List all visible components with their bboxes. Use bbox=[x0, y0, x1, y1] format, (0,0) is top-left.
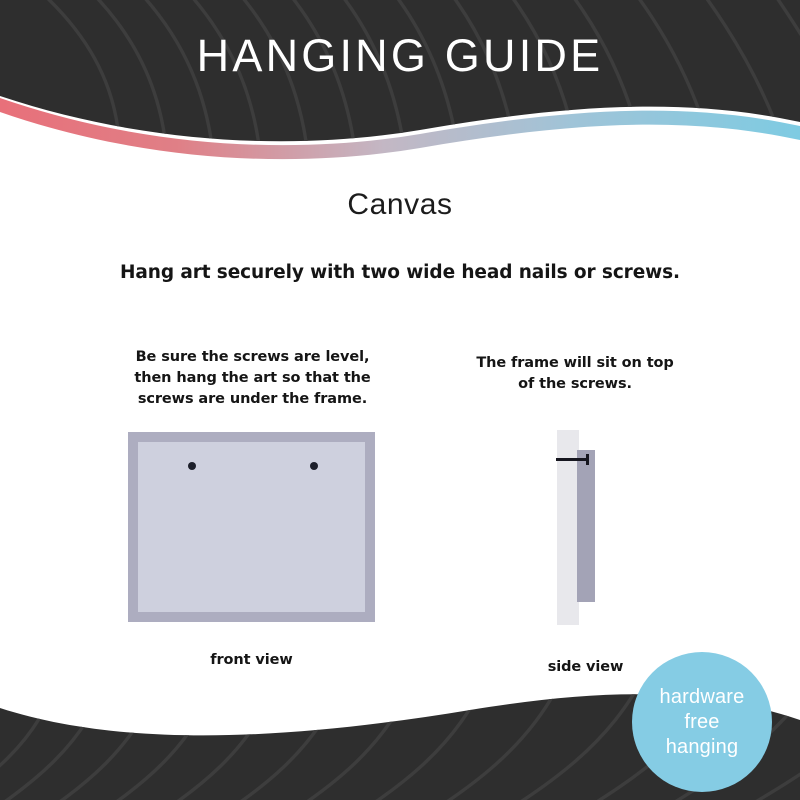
front-view-caption: Be sure the screws are level, then hang … bbox=[130, 347, 375, 410]
front-view-caption-line-3: screws are under the frame. bbox=[130, 389, 375, 410]
instruction-lede: Hang art securely with two wide head nai… bbox=[0, 262, 800, 283]
side-view-frame-diagram bbox=[550, 430, 620, 625]
front-view-frame-diagram bbox=[128, 432, 375, 622]
side-view-label: side view bbox=[498, 659, 673, 675]
side-view-caption: The frame will sit on top of the screws. bbox=[460, 353, 690, 395]
front-view-label: front view bbox=[128, 652, 375, 668]
badge-line-3: hanging bbox=[666, 735, 739, 760]
front-view-caption-line-2: then hang the art so that the bbox=[130, 368, 375, 389]
side-view-frame bbox=[577, 450, 595, 602]
screw-dot-left bbox=[188, 462, 196, 470]
front-view-canvas-area bbox=[138, 442, 365, 612]
header-band: HANGING GUIDE bbox=[0, 0, 800, 160]
side-view-caption-line-1: The frame will sit on top bbox=[460, 353, 690, 374]
badge-line-1: hardware bbox=[660, 685, 745, 710]
page-title: HANGING GUIDE bbox=[0, 33, 800, 78]
side-view-caption-line-2: of the screws. bbox=[460, 374, 690, 395]
hanging-guide-page: HANGING GUIDE Canvas Hang art securely w… bbox=[0, 0, 800, 800]
side-view-screw-head bbox=[586, 454, 589, 465]
hardware-free-hanging-badge: hardware free hanging bbox=[632, 652, 772, 792]
front-view-caption-line-1: Be sure the screws are level, bbox=[130, 347, 375, 368]
product-type-heading: Canvas bbox=[0, 188, 800, 222]
screw-dot-right bbox=[310, 462, 318, 470]
side-view-screw-shaft bbox=[556, 458, 589, 461]
badge-line-2: free bbox=[684, 710, 719, 735]
